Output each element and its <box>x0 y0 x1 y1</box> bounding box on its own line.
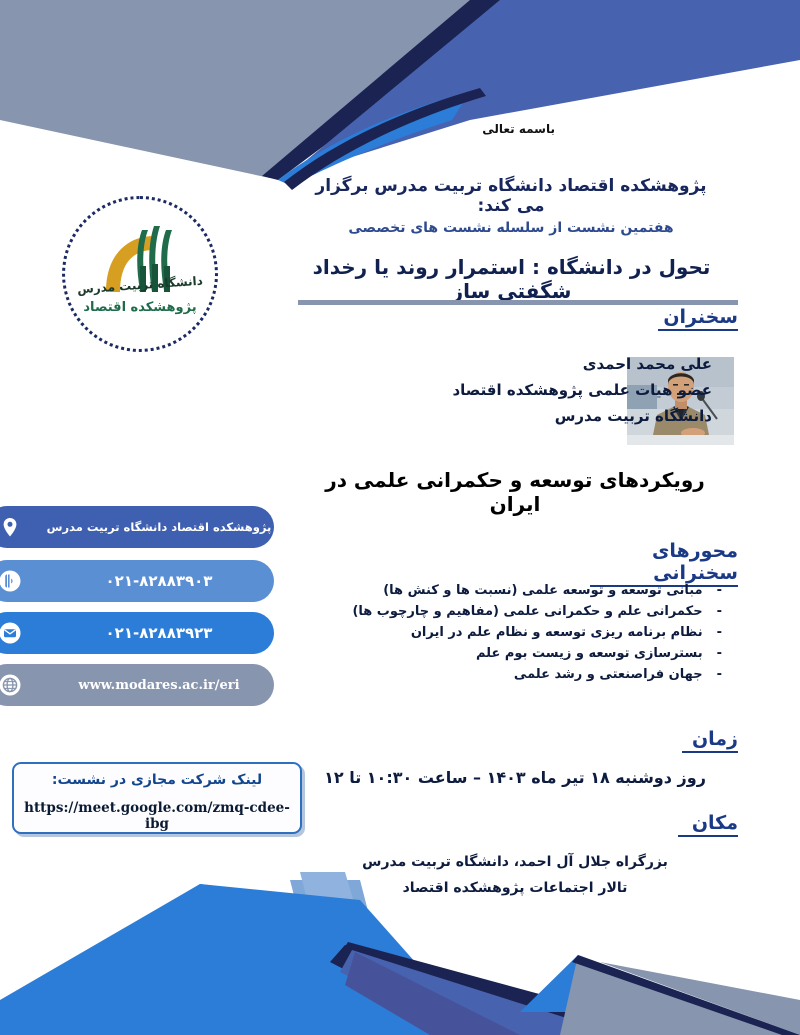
envelope-icon <box>0 617 26 649</box>
contact-website-text[interactable]: www.modares.ac.ir/eri <box>32 678 274 693</box>
place-value: بزرگراه جلال آل احمد، دانشگاه تربیت مدرس… <box>300 850 730 902</box>
speaker-section-label: سخنران <box>658 306 738 331</box>
topic-text: حکمرانی علم و حکمرانی علمی (مفاهیم و چار… <box>352 604 702 619</box>
speaker-name: علی محمد احمدی <box>330 352 712 378</box>
bottom-indigo-facet <box>340 950 620 1035</box>
bullet-dash: - <box>717 664 722 685</box>
top-left-gray-shape <box>0 0 480 178</box>
list-item: -مبانی توسعه و توسعه علمی (نسبت ها و کنش… <box>330 580 722 601</box>
topic-text: بسترسازی توسعه و زیست بوم علم <box>476 646 703 661</box>
bottom-gray-slope <box>560 955 800 1035</box>
virtual-link-title: لینک شرکت مجازی در نشست: <box>24 772 290 788</box>
bottom-small-blue-peak <box>520 955 640 1012</box>
speaker-affiliation-line2: دانشگاه تربیت مدرس <box>330 404 712 430</box>
topic-text: جهان فراصنعتی و رشد علمی <box>514 667 703 682</box>
virtual-link-url[interactable]: https://meet.google.com/zmq-cdee-ibg <box>20 800 294 832</box>
bullet-dash: - <box>717 601 722 622</box>
speaker-affiliation-line1: عضو هیات علمی پژوهشکده اقتصاد <box>330 378 712 404</box>
top-left-gray-shape-2 <box>0 0 300 178</box>
list-item: -نظام برنامه ریزی توسعه و نظام علم در ای… <box>330 622 722 643</box>
topics-list: -مبانی توسعه و توسعه علمی (نسبت ها و کنش… <box>330 580 722 685</box>
topic-text: نظام برنامه ریزی توسعه و نظام علم در ایر… <box>411 625 703 640</box>
contact-fax-bar: ۰۲۱-۸۲۸۸۳۹۲۳ <box>0 612 274 654</box>
place-line1: بزرگراه جلال آل احمد، دانشگاه تربیت مدرس <box>300 850 730 876</box>
top-navy-wedge <box>262 0 520 180</box>
lecture-title: رویکردهای توسعه و حکمرانی علمی در ایران <box>300 468 730 516</box>
virtual-link-box[interactable]: لینک شرکت مجازی در نشست: https://meet.go… <box>12 762 302 834</box>
bullet-dash: - <box>717 622 722 643</box>
university-logo: دانشگاه تربیت مدرس پژوهشکده اقتصاد <box>62 196 218 352</box>
bottom-light-sliver <box>290 880 400 1035</box>
bottom-navy-ridge <box>330 945 700 1035</box>
contact-website-bar[interactable]: www.modares.ac.ir/eri <box>0 664 274 706</box>
list-item: -حکمرانی علم و حکمرانی علمی (مفاهیم و چا… <box>330 601 722 622</box>
list-item: -بسترسازی توسعه و زیست بوم علم <box>330 643 722 664</box>
contact-address-text: پژوهشکده اقتصاد دانشگاه تربیت مدرس <box>32 520 274 534</box>
time-section-label: زمان <box>682 728 738 753</box>
top-right-royal-shape <box>285 0 800 178</box>
contact-phone-text: ۰۲۱-۸۲۸۸۳۹۰۳ <box>32 572 274 590</box>
bottom-gray-slope-2 <box>600 962 800 1035</box>
bottom-main-blue-peak-2 <box>0 884 470 1035</box>
list-item: -جهان فراصنعتی و رشد علمی <box>330 664 722 685</box>
contact-phone-bar: ۰۲۱-۸۲۸۸۳۹۰۳ <box>0 560 274 602</box>
place-line2: تالار اجتماعات پژوهشکده اقتصاد <box>300 876 730 902</box>
bullet-dash: - <box>717 580 722 601</box>
bottom-navy-ridge-2 <box>338 942 690 1035</box>
phone-icon <box>0 565 26 597</box>
time-value: روز دوشنبه ۱۸ تیر ماه ۱۴۰۳ – ساعت ۱۰:۳۰ … <box>300 768 730 787</box>
contact-address-bar: پژوهشکده اقتصاد دانشگاه تربیت مدرس <box>0 506 274 548</box>
header-divider <box>298 300 738 305</box>
logo-institute-text: پژوهشکده اقتصاد <box>62 300 218 315</box>
contact-fax-text: ۰۲۱-۸۲۸۸۳۹۲۳ <box>32 624 274 642</box>
bottom-indigo-facet-2 <box>345 952 520 1035</box>
event-poster: دانشگاه تربیت مدرس پژوهشکده اقتصاد باسمه… <box>0 0 800 1035</box>
host-line: پژوهشکده اقتصاد دانشگاه تربیت مدرس برگزا… <box>300 176 722 216</box>
basmale-text: باسمه تعالی <box>482 122 555 136</box>
bullet-dash: - <box>717 643 722 664</box>
speaker-details: علی محمد احمدی عضو هیات علمی پژوهشکده اق… <box>330 352 712 429</box>
series-line: هفتمین نشست از سلسله نشست های تخصصی <box>300 220 722 236</box>
top-navy-curve-line <box>284 88 486 190</box>
bottom-main-blue-peak <box>0 884 480 1035</box>
location-pin-icon <box>0 511 26 543</box>
session-title: تحول در دانشگاه : استمرار روند یا رخداد … <box>285 255 738 303</box>
top-right-royal-curve <box>288 0 800 180</box>
topic-text: مبانی توسعه و توسعه علمی (نسبت ها و کنش … <box>383 583 702 598</box>
place-section-label: مکان <box>678 812 738 837</box>
top-bright-blue-accent <box>278 92 470 186</box>
bottom-gray-navy-edge <box>572 955 800 1035</box>
globe-icon <box>0 669 26 701</box>
